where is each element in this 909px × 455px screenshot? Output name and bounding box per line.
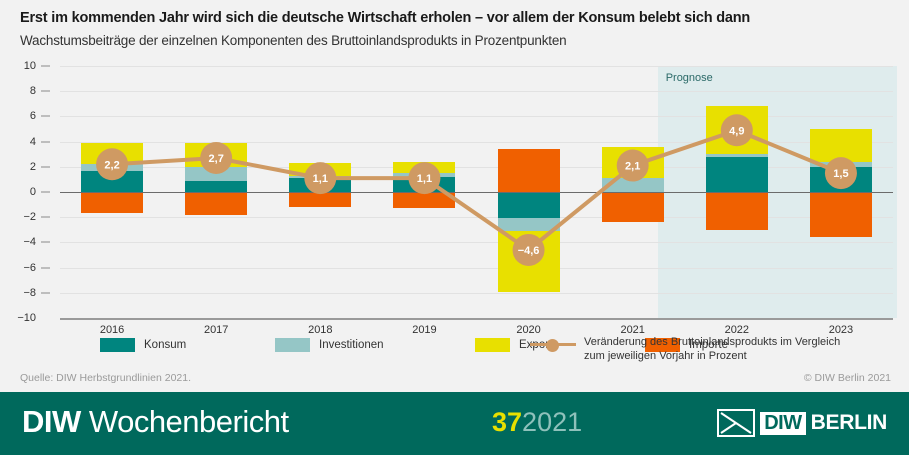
y-axis-tick-label: −6 bbox=[8, 262, 36, 274]
data-point-label: 2,7 bbox=[209, 153, 224, 165]
x-axis-tick-label: 2017 bbox=[204, 324, 228, 336]
copyright-note: © DIW Berlin 2021 bbox=[804, 372, 891, 384]
logo-diw-text: DIW bbox=[760, 412, 805, 435]
x-axis-tick-label: 2019 bbox=[412, 324, 436, 336]
line-data-point: 4,9 bbox=[721, 114, 753, 146]
legend-line-label-line2: zum jeweiligen Vorjahr in Prozent bbox=[584, 350, 747, 362]
chart-infographic: Erst im kommenden Jahr wird sich die deu… bbox=[0, 0, 909, 455]
y-axis-tick-label: 8 bbox=[8, 85, 36, 97]
banner-issue: 372021 bbox=[492, 407, 582, 438]
x-axis-tick-label: 2016 bbox=[100, 324, 124, 336]
legend-swatch bbox=[475, 338, 510, 352]
y-axis-tick-label: 0 bbox=[8, 186, 36, 198]
data-point-label: 1,1 bbox=[417, 173, 432, 185]
y-axis-tick-label: −4 bbox=[8, 236, 36, 248]
y-axis-tick-label: −8 bbox=[8, 287, 36, 299]
data-point-label: 2,2 bbox=[104, 159, 119, 171]
x-axis-tick-label: 2021 bbox=[620, 324, 644, 336]
y-axis-tick-label: 4 bbox=[8, 136, 36, 148]
banner-issue-year: 2021 bbox=[522, 407, 582, 437]
legend-item-gdp-line[interactable]: Veränderung des Bruttoinlandsprodukts im… bbox=[530, 336, 840, 364]
gridline bbox=[60, 318, 893, 320]
banner-title: DIW Wochenbericht bbox=[22, 404, 289, 440]
data-point-label: 1,1 bbox=[313, 173, 328, 185]
bottom-banner: DIW Wochenbericht 372021 DIW BERLIN bbox=[0, 392, 909, 455]
logo-mark-icon bbox=[717, 409, 755, 437]
x-axis-tick-label: 2023 bbox=[829, 324, 853, 336]
x-axis-tick-label: 2020 bbox=[516, 324, 540, 336]
line-data-point: 1,5 bbox=[825, 157, 857, 189]
y-axis-tick-mark bbox=[41, 116, 50, 117]
source-note: Quelle: DIW Herbstgrundlinien 2021. bbox=[20, 372, 191, 384]
diw-berlin-logo: DIW BERLIN bbox=[717, 408, 887, 438]
line-data-point: 2,7 bbox=[200, 142, 232, 174]
data-point-label: −4,6 bbox=[518, 245, 540, 257]
x-axis-tick-label: 2018 bbox=[308, 324, 332, 336]
y-axis-tick-label: 6 bbox=[8, 110, 36, 122]
line-data-point: 1,1 bbox=[304, 162, 336, 194]
data-point-label: 2,1 bbox=[625, 161, 640, 173]
data-point-label: 4,9 bbox=[729, 125, 744, 137]
y-axis-tick-mark bbox=[41, 217, 50, 218]
legend-label: Investitionen bbox=[319, 339, 384, 351]
page-title: Erst im kommenden Jahr wird sich die deu… bbox=[20, 10, 750, 26]
legend-line-label: Veränderung des Bruttoinlandsprodukts im… bbox=[584, 336, 840, 364]
legend-swatch bbox=[275, 338, 310, 352]
line-data-point: 2,1 bbox=[617, 150, 649, 182]
y-axis-tick-label: 10 bbox=[8, 60, 36, 72]
y-axis-tick-mark bbox=[41, 192, 50, 193]
banner-title-diw: DIW bbox=[22, 404, 81, 439]
y-axis-tick-mark bbox=[41, 166, 50, 167]
legend-swatch bbox=[100, 338, 135, 352]
data-point-label: 1,5 bbox=[833, 168, 848, 180]
legend-line-label-line1: Veränderung des Bruttoinlandsprodukts im… bbox=[584, 336, 840, 348]
line-data-point: 2,2 bbox=[96, 148, 128, 180]
banner-issue-number: 37 bbox=[492, 407, 522, 437]
legend-label: Konsum bbox=[144, 339, 186, 351]
page-subtitle: Wachstumsbeiträge der einzelnen Komponen… bbox=[20, 33, 566, 48]
legend-item-konsum[interactable]: Konsum bbox=[100, 338, 186, 352]
y-axis-tick-mark bbox=[41, 267, 50, 268]
chart-legend: KonsumInvestitionenExporteImporteVerände… bbox=[60, 336, 900, 370]
y-axis-tick-label: −2 bbox=[8, 211, 36, 223]
y-axis-tick-mark bbox=[41, 292, 50, 293]
y-axis-tick-mark bbox=[41, 91, 50, 92]
chart-plot-area: Prognose1086420−2−4−6−8−1020162017201820… bbox=[60, 66, 893, 318]
y-axis-tick-mark bbox=[41, 66, 50, 67]
line-data-point: −4,6 bbox=[513, 234, 545, 266]
x-axis-tick-label: 2022 bbox=[725, 324, 749, 336]
y-axis-tick-mark bbox=[41, 141, 50, 142]
y-axis-tick-mark bbox=[41, 242, 50, 243]
logo-berlin-text: BERLIN bbox=[811, 411, 887, 435]
gdp-growth-line-series: 2,22,71,11,1−4,62,14,91,5 bbox=[60, 66, 893, 318]
legend-line-icon bbox=[530, 337, 576, 351]
y-axis-tick-label: −10 bbox=[8, 312, 36, 324]
legend-item-investitionen[interactable]: Investitionen bbox=[275, 338, 384, 352]
banner-title-rest: Wochenbericht bbox=[81, 404, 289, 439]
line-data-point: 1,1 bbox=[408, 162, 440, 194]
y-axis-tick-label: 2 bbox=[8, 161, 36, 173]
